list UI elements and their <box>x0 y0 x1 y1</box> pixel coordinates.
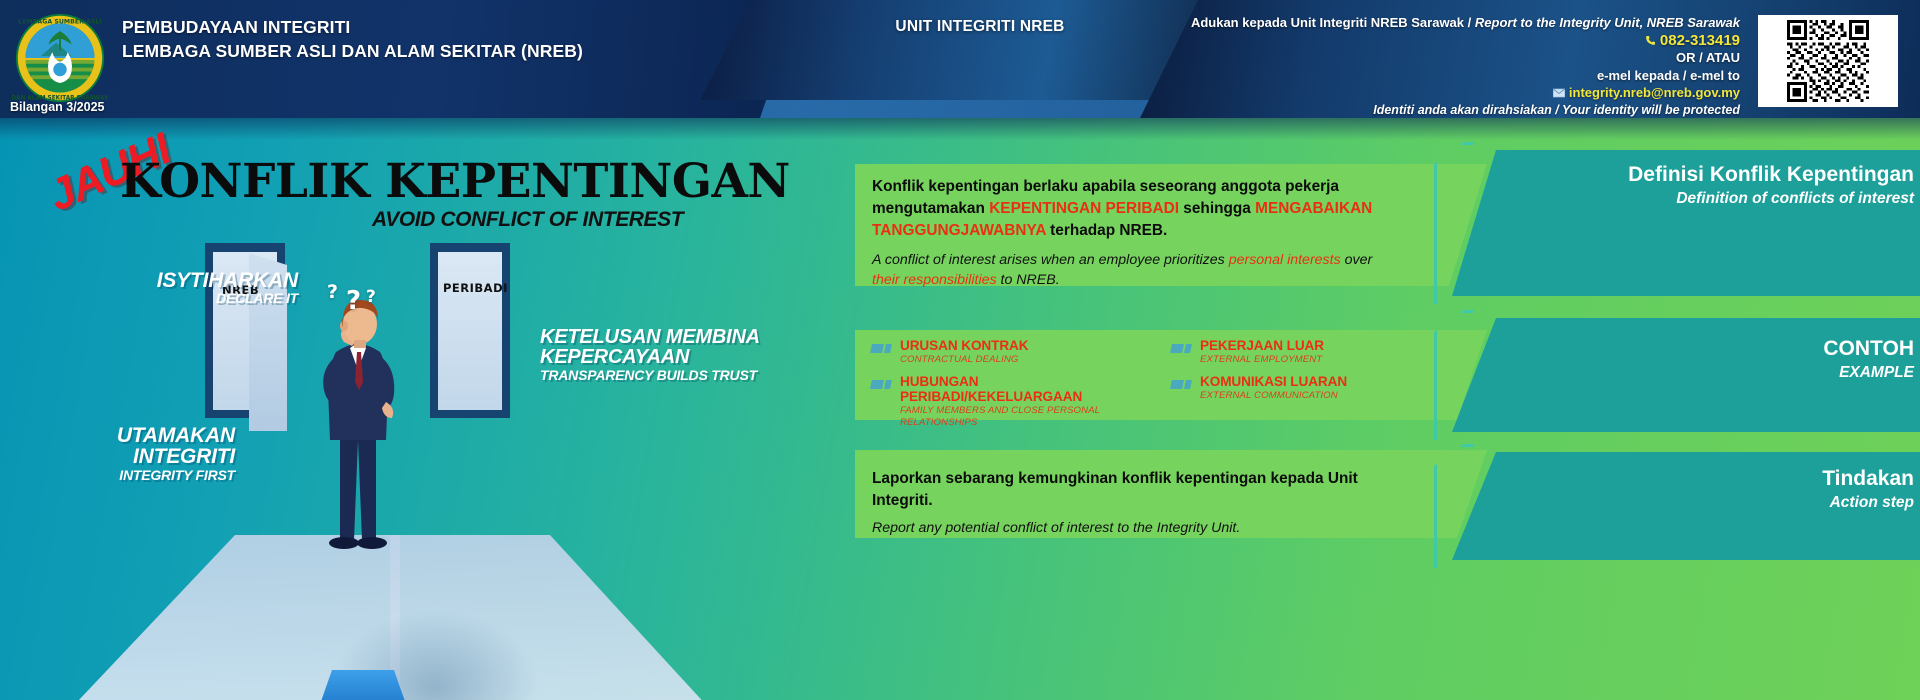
unit-banner-title: UNIT INTEGRITI NREB <box>700 18 1260 36</box>
report-label-ms: Adukan kepada Unit Integriti NREB Sarawa… <box>1191 15 1464 30</box>
page-subtitle: AVOID CONFLICT OF INTEREST <box>372 208 683 232</box>
email-label: e-mel kepada / e-mel to <box>1180 67 1740 85</box>
example-en: EXTERNAL COMMUNICATION <box>1200 390 1442 402</box>
triple-arrow-icon <box>870 341 894 352</box>
example-en: FAMILY MEMBERS AND CLOSE PERSONAL RELATI… <box>900 405 1142 429</box>
door-label-peribadi: PERIBADI <box>443 281 508 295</box>
example-en: EXTERNAL EMPLOYMENT <box>1200 354 1442 366</box>
tab-definition-labels: Definisi Konflik Kepentingan Definition … <box>1614 162 1914 208</box>
triple-arrow-icon <box>1170 377 1194 388</box>
label-en: INTEGRITY FIRST <box>20 468 235 482</box>
organization-title: PEMBUDAYAAN INTEGRITI LEMBAGA SUMBER ASL… <box>122 15 682 63</box>
tab-example-labels: CONTOH EXAMPLE <box>1614 336 1914 382</box>
question-mark-icon: ? <box>327 281 338 303</box>
org-title-line-1: PEMBUDAYAAN INTEGRITI <box>122 15 682 39</box>
floor-mat <box>318 670 408 700</box>
definition-en-part1: A conflict of interest arises when an em… <box>872 252 1229 268</box>
example-en: CONTRACTUAL DEALING <box>900 354 1142 366</box>
svg-text:LEMBAGA SUMBER ASLI: LEMBAGA SUMBER ASLI <box>18 18 101 25</box>
definition-en-highlight1: personal interests <box>1229 252 1341 268</box>
tab-label-en: Definition of conflicts of interest <box>1614 189 1914 208</box>
triple-arrow-icon <box>870 377 894 388</box>
definition-ms: Konflik kepentingan berlaku apabila sese… <box>872 176 1402 242</box>
example-ms: URUSAN KONTRAK <box>900 338 1142 353</box>
tab-label-ms: Tindakan <box>1614 466 1914 491</box>
phone-number[interactable]: 082-313419 <box>1660 32 1740 49</box>
email-line: integrity.nreb@nreb.gov.my <box>1180 84 1740 102</box>
tab-label-en: Action step <box>1614 493 1914 512</box>
illustration-label-declare: ISYTIHARKAN DECLARE IT <box>88 270 298 306</box>
issue-number: Bilangan 3/2025 <box>10 100 105 114</box>
person-illustration <box>300 290 420 560</box>
examples-column-left: URUSAN KONTRAK CONTRACTUAL DEALING HUBUN… <box>870 338 1142 437</box>
body-top-shadow <box>0 118 1920 140</box>
triple-arrow-icon <box>1170 341 1194 352</box>
example-ms: KOMUNIKASI LUARAN <box>1200 374 1442 389</box>
report-line: Adukan kepada Unit Integriti NREB Sarawa… <box>1180 14 1740 32</box>
definition-en-part3: to NREB. <box>997 272 1060 288</box>
label-ms: KETELUSAN MEMBINA KEPERCAYAAN <box>540 327 810 368</box>
action-en: Report any potential conflict of interes… <box>872 520 1392 536</box>
report-separator: / <box>1468 15 1472 30</box>
label-en: DECLARE IT <box>88 291 298 305</box>
illustration-label-trust: KETELUSAN MEMBINA KEPERCAYAAN TRANSPAREN… <box>540 327 810 382</box>
email-address[interactable]: integrity.nreb@nreb.gov.my <box>1569 85 1740 100</box>
definition-en-part2: over <box>1341 252 1373 268</box>
report-label-en: Report to the Integrity Unit, NREB Saraw… <box>1475 15 1740 30</box>
action-ms: Laporkan sebarang kemungkinan konflik ke… <box>872 468 1392 512</box>
or-line: OR / ATAU <box>1180 49 1740 67</box>
definition-en-highlight2: their responsibilities <box>872 272 997 288</box>
example-item: KOMUNIKASI LUARAN EXTERNAL COMMUNICATION <box>1170 374 1442 402</box>
card-definition-content: Konflik kepentingan berlaku apabila sese… <box>872 176 1402 290</box>
definition-en: A conflict of interest arises when an em… <box>872 250 1402 290</box>
infographic-poster: LEMBAGA SUMBER ASLI DAN ALAM SEKITAR SAR… <box>0 0 1920 700</box>
envelope-icon <box>1553 85 1569 100</box>
phone-line: 082-313419 <box>1180 32 1740 50</box>
example-item: PEKERJAAN LUAR EXTERNAL EMPLOYMENT <box>1170 338 1442 366</box>
example-ms: HUBUNGAN PERIBADI/KEKELUARGAAN <box>900 374 1142 404</box>
definition-ms-part3: terhadap NREB. <box>1046 222 1167 239</box>
phone-icon <box>1645 33 1660 48</box>
example-ms: PEKERJAAN LUAR <box>1200 338 1442 353</box>
question-mark-icon: ? <box>366 287 376 307</box>
privacy-note: Identiti anda akan dirahsiakan / Your id… <box>1180 102 1740 120</box>
tab-action-labels: Tindakan Action step <box>1614 466 1914 512</box>
tab-label-en: EXAMPLE <box>1614 363 1914 382</box>
label-ms: UTAMAKAN INTEGRITI <box>20 425 235 468</box>
label-ms: ISYTIHARKAN <box>88 270 298 291</box>
page-title: KONFLIK KEPENTINGAN <box>120 158 790 205</box>
question-mark-icon: ? <box>346 286 361 316</box>
illustration-label-integrity: UTAMAKAN INTEGRITI INTEGRITY FIRST <box>20 425 235 482</box>
label-en: TRANSPARENCY BUILDS TRUST <box>540 368 810 382</box>
qr-code-icon[interactable] <box>1758 15 1898 107</box>
door-peribadi-panel <box>438 252 502 410</box>
org-title-line-2: LEMBAGA SUMBER ASLI DAN ALAM SEKITAR (NR… <box>122 39 682 63</box>
example-item: URUSAN KONTRAK CONTRACTUAL DEALING <box>870 338 1142 366</box>
definition-ms-part2: sehingga <box>1179 200 1255 217</box>
card-action-content: Laporkan sebarang kemungkinan konflik ke… <box>872 468 1392 536</box>
example-item: HUBUNGAN PERIBADI/KEKELUARGAAN FAMILY ME… <box>870 374 1142 429</box>
nreb-logo-icon: LEMBAGA SUMBER ASLI DAN ALAM SEKITAR SAR… <box>12 10 108 106</box>
tab-label-ms: Definisi Konflik Kepentingan <box>1614 162 1914 187</box>
definition-ms-highlight1: KEPENTINGAN PERIBADI <box>989 200 1179 217</box>
tab-label-ms: CONTOH <box>1614 336 1914 361</box>
contact-block: Adukan kepada Unit Integriti NREB Sarawa… <box>1180 14 1740 119</box>
examples-column-right: PEKERJAAN LUAR EXTERNAL EMPLOYMENT KOMUN… <box>1170 338 1442 410</box>
